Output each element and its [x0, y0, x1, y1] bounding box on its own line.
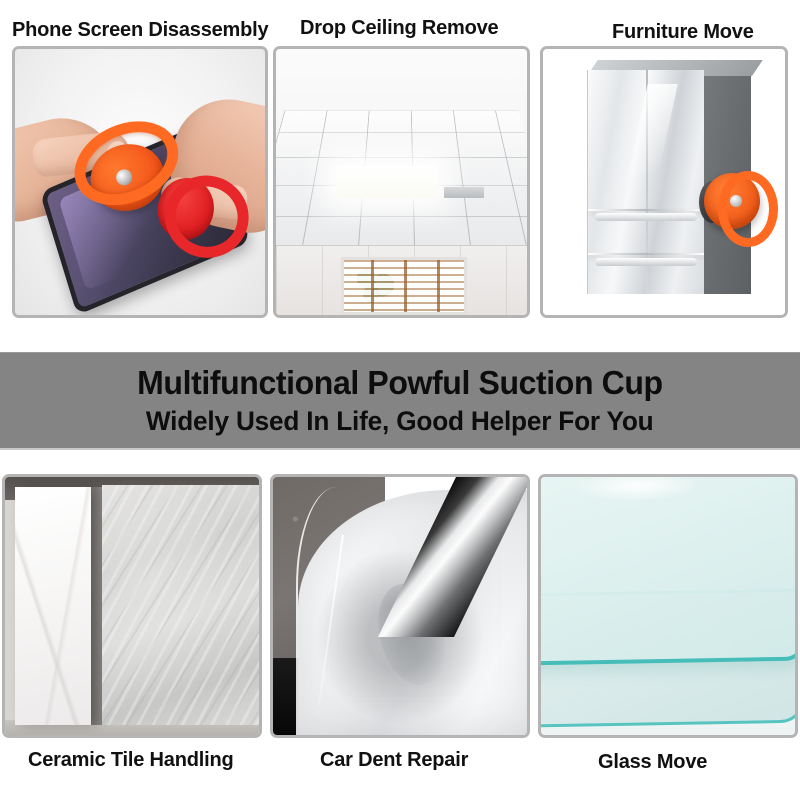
panel-phone-screen-disassembly: [12, 46, 268, 318]
panel-ceramic-tile-handling: [2, 474, 262, 738]
infographic-root: Phone Screen Disassembly Drop Ceiling Re…: [0, 0, 800, 800]
glass-highlight-reflection: [573, 477, 701, 502]
ceiling-air-vent: [444, 187, 484, 198]
photo-car-dent: [273, 477, 527, 735]
panel-furniture-move: [540, 46, 788, 318]
photo-glass-sheets: [541, 477, 795, 735]
photo-refrigerator: [543, 49, 785, 315]
center-banner: Multifunctional Powful Suction Cup Widel…: [0, 352, 800, 450]
window: [341, 257, 467, 315]
drawer-handle: [595, 258, 697, 266]
top-label-furniture-move: Furniture Move: [612, 22, 754, 42]
banner-headline: Multifunctional Powful Suction Cup: [137, 366, 663, 400]
gray-textured-tile: [102, 485, 259, 725]
refrigerator-front-doors: [587, 70, 704, 293]
room-wall: [276, 245, 527, 315]
photo-drop-ceiling: [276, 49, 527, 315]
top-label-phone-screen-disassembly: Phone Screen Disassembly: [12, 20, 268, 40]
wheel-arch-edge: [296, 487, 354, 735]
blind-slat: [371, 260, 374, 312]
panel-car-dent-repair: [270, 474, 530, 738]
white-marble-tile: [15, 487, 91, 724]
bottom-label-glass-move: Glass Move: [598, 752, 707, 772]
banner-subheadline: Widely Used In Life, Good Helper For You: [146, 407, 654, 435]
photo-phone-screen-disassembly: [15, 49, 265, 315]
panel-drop-ceiling-remove: [273, 46, 530, 318]
orange-suction-cup: [704, 171, 778, 233]
top-label-drop-ceiling-remove: Drop Ceiling Remove: [300, 18, 498, 38]
drawer-divider: [588, 253, 704, 255]
photo-ceramic-tiles: [5, 477, 259, 735]
panel-glass-move: [538, 474, 798, 738]
bottom-label-car-dent-repair: Car Dent Repair: [320, 750, 468, 770]
upper-glass-sheet: [541, 477, 795, 665]
door-gloss-reflection: [620, 84, 678, 214]
blind-slat: [404, 260, 407, 312]
bottom-label-ceramic-tile-handling: Ceramic Tile Handling: [28, 750, 234, 770]
drawer-handle: [595, 213, 697, 221]
drawer-divider: [588, 209, 704, 211]
cup-handle-ring: [718, 171, 778, 247]
blind-slat: [437, 260, 440, 312]
ceiling-light-panel: [336, 166, 436, 198]
